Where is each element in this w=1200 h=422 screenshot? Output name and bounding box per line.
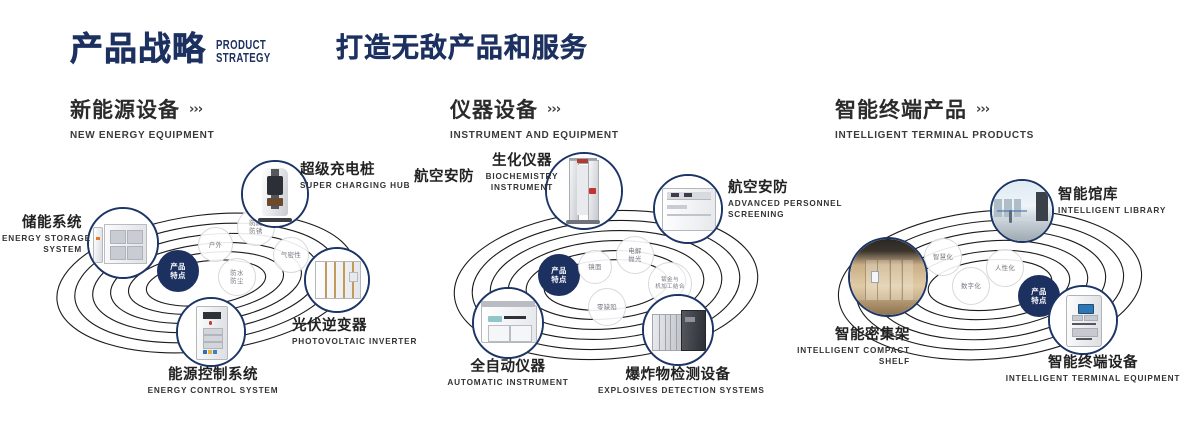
node-label-cn: 全自动仪器	[432, 359, 584, 376]
section-title-new-energy-cn: 新能源设备 ›››	[70, 94, 214, 124]
page-title-english: PRODUCT STRATEGY	[216, 38, 271, 64]
compact-shelf-icon	[850, 239, 926, 315]
node-label-en-1: INTELLIGENT TERMINAL EQUIPMENT	[998, 374, 1188, 383]
inverter-body	[315, 261, 362, 299]
feature-bubble-line2: 防锈	[249, 227, 262, 235]
node-label-intelligent-terminal-equipment: 智能终端设备 INTELLIGENT TERMINAL EQUIPMENT	[998, 355, 1188, 383]
feature-bubble-line1: 镜面	[588, 263, 601, 271]
chevron-right-icon: ›››	[976, 103, 989, 116]
feature-bubble-outdoor: 户外	[198, 227, 233, 262]
feature-bubble-line1: 产品	[170, 262, 186, 271]
screening-machine-icon	[655, 176, 721, 242]
node-label-en-1: EXPLOSIVES DETECTION SYSTEMS	[598, 386, 758, 395]
node-label-cn: 智能密集架	[780, 327, 910, 344]
feature-bubble-humanised: 人性化	[986, 249, 1024, 287]
photovoltaic-inverter-icon	[306, 249, 368, 311]
node-bubble-intelligent-terminal-equipment[interactable]	[1048, 285, 1118, 355]
chevron-right-icon: ›››	[189, 103, 202, 116]
cluster-intelligent-terminal-products: 智慧化 数字化 人性化 产品 特点 智能馆库	[800, 155, 1200, 405]
screening-body	[662, 188, 717, 231]
node-label-en-1: PHOTOVOLTAIC INVERTER	[292, 337, 417, 346]
node-label-photovoltaic-inverter: 光伏逆变器 PHOTOVOLTAIC INVERTER	[292, 318, 417, 346]
feature-bubble-airtight: 气密性	[273, 237, 309, 273]
node-bubble-energy-control-system[interactable]	[176, 297, 246, 367]
feature-bubble-line2: 特点	[1031, 296, 1047, 305]
node-bubble-intelligent-compact-shelf[interactable]	[848, 237, 928, 317]
feature-bubble-line2: 防尘	[230, 277, 243, 285]
section-title-intelligent-terminal-en: INTELLIGENT TERMINAL PRODUCTS	[835, 130, 1034, 141]
section-title-instrument-cn: 仪器设备 ›››	[450, 94, 619, 124]
feature-bubble-line1: 智慧化	[933, 253, 953, 261]
chevron-right-icon: ›››	[547, 103, 560, 116]
node-label-energy-control-system: 能源控制系统 ENERGY CONTROL SYSTEM	[128, 367, 298, 395]
feature-bubble-line1: 零缺陷	[597, 303, 617, 311]
node-label-cn: 光伏逆变器	[292, 318, 417, 335]
node-label-en-2: SYSTEM	[2, 245, 82, 254]
feature-bubble-line2: 机加工结合	[655, 284, 684, 291]
node-bubble-energy-storage-system[interactable]	[87, 207, 159, 279]
cluster-instrument-and-equipment: 产品 特点 镜面 电解 抛光 零缺陷 钣金与 机加工结合 航空安防	[410, 155, 810, 405]
node-label-intelligent-library: 智能馆库 INTELLIGENT LIBRARY	[1058, 187, 1166, 215]
poster-canvas: 产品战略 PRODUCT STRATEGY 打造无敌产品和服务 新能源设备 ››…	[0, 0, 1200, 422]
feature-bubble-waterproof: 防水 防尘	[218, 258, 256, 296]
feature-bubble-line1: 气密性	[281, 251, 301, 259]
control-cabinet-icon	[178, 299, 244, 365]
node-label-cn: 智能终端设备	[998, 355, 1188, 372]
node-label-explosives-detection: 爆炸物检测设备 EXPLOSIVES DETECTION SYSTEMS	[598, 367, 758, 395]
explosives-detector-icon	[644, 296, 712, 364]
node-label-energy-storage-system: 储能系统 ENERGY STORAGE SYSTEM	[2, 215, 82, 255]
energy-storage-cabinet-icon	[89, 209, 157, 277]
section-title-instrument: 仪器设备 ››› INSTRUMENT AND EQUIPMENT	[450, 94, 619, 141]
detector-right-module	[681, 310, 706, 351]
feature-bubble-line1: 钣金与	[661, 277, 679, 284]
node-bubble-explosives-detection[interactable]	[642, 294, 714, 366]
feature-bubble-line1: 户外	[209, 241, 222, 249]
feature-bubble-line2: 抛光	[628, 255, 641, 263]
node-label-en-1: INTELLIGENT COMPACT	[780, 346, 910, 355]
node-bubble-intelligent-library[interactable]	[990, 179, 1054, 243]
feature-bubble-mirror-finish: 镜面	[578, 250, 612, 284]
kiosk-body	[1066, 295, 1102, 347]
section-title-new-energy: 新能源设备 ››› NEW ENERGY EQUIPMENT	[70, 94, 214, 141]
node-label-en-1: AUTOMATIC INSTRUMENT	[432, 378, 584, 387]
node-label-en-1: ENERGY STORAGE	[2, 234, 82, 243]
cabinet-body	[104, 224, 147, 264]
feature-bubble-line1: 产品	[551, 266, 567, 275]
section-label-cn: 新能源设备	[70, 94, 180, 124]
node-label-intelligent-compact-shelf: 智能密集架 INTELLIGENT COMPACT SHELF	[780, 327, 910, 367]
section-label-cn: 智能终端产品	[835, 94, 967, 124]
section-title-instrument-en: INSTRUMENT AND EQUIPMENT	[450, 130, 619, 141]
feature-bubble-zero-defect: 零缺陷	[588, 288, 626, 326]
feature-bubble-line1: 电解	[628, 247, 641, 255]
cluster-new-energy-equipment: 产品 特点 户外 防腐 防锈 防水 防尘 气密性	[20, 155, 420, 405]
feature-bubble-primary: 产品 特点	[538, 254, 580, 296]
section-label-cn: 仪器设备	[450, 94, 538, 124]
node-bubble-super-charging-hub[interactable]	[241, 160, 309, 228]
node-label-en-2: INSTRUMENT	[462, 183, 582, 192]
feature-bubble-primary: 产品 特点	[157, 250, 199, 292]
node-label-en-2: SHELF	[780, 357, 910, 366]
node-label-biochemistry-instrument: 生化仪器 BIOCHEMISTRY INSTRUMENT	[462, 153, 582, 193]
feature-bubble-electropolishing: 电解 抛光	[616, 236, 654, 274]
node-label-cn: 爆炸物检测设备	[598, 367, 758, 384]
page-title: 产品战略	[70, 32, 206, 65]
node-bubble-advanced-personnel-screening[interactable]	[653, 174, 723, 244]
page-slogan: 打造无敌产品和服务	[336, 26, 588, 65]
section-title-intelligent-terminal: 智能终端产品 ››› INTELLIGENT TERMINAL PRODUCTS	[835, 94, 1034, 141]
analyser-body	[481, 305, 537, 342]
feature-bubble-line2: 特点	[170, 271, 186, 280]
node-label-cn: 智能馆库	[1058, 187, 1166, 204]
node-label-cn: 储能系统	[2, 215, 82, 232]
section-title-new-energy-en: NEW ENERGY EQUIPMENT	[70, 130, 214, 141]
cabinet-side-unit	[93, 227, 103, 263]
library-interior-icon	[992, 181, 1052, 241]
node-label-cn: 能源控制系统	[128, 367, 298, 384]
control-cabinet-body	[196, 306, 227, 361]
node-bubble-automatic-instrument[interactable]	[472, 287, 544, 359]
feature-bubble-digital: 数字化	[952, 267, 990, 305]
node-label-automatic-instrument: 全自动仪器 AUTOMATIC INSTRUMENT	[432, 359, 584, 387]
feature-bubble-line1: 数字化	[961, 282, 981, 290]
feature-bubble-line1: 防水	[230, 269, 243, 277]
feature-bubble-smart: 智慧化	[924, 238, 962, 276]
terminal-kiosk-icon	[1050, 287, 1116, 353]
detector-left-module	[652, 314, 683, 351]
feature-bubble-line1: 产品	[1031, 287, 1047, 296]
automatic-analyser-icon	[474, 289, 542, 357]
node-label-en-1: BIOCHEMISTRY	[462, 172, 582, 181]
node-bubble-photovoltaic-inverter[interactable]	[304, 247, 370, 313]
charging-pile-icon	[243, 162, 307, 226]
feature-bubble-line1: 人性化	[995, 264, 1015, 272]
node-label-en-1: INTELLIGENT LIBRARY	[1058, 206, 1166, 215]
poster-header: 产品战略 PRODUCT STRATEGY 打造无敌产品和服务	[70, 26, 588, 65]
node-label-cn: 生化仪器	[462, 153, 582, 170]
page-title-english-line2: STRATEGY	[216, 51, 271, 64]
node-label-en-1: ENERGY CONTROL SYSTEM	[128, 386, 298, 395]
section-title-intelligent-terminal-cn: 智能终端产品 ›››	[835, 94, 1034, 124]
feature-bubble-line2: 特点	[551, 275, 567, 284]
